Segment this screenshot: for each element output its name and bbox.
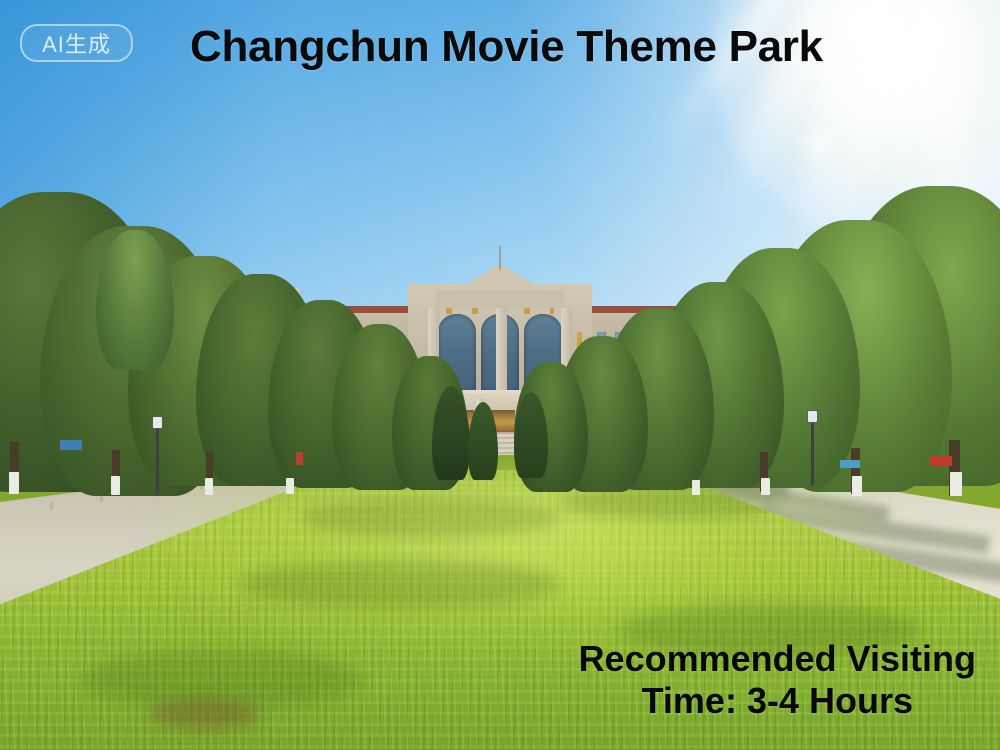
lamp-post-icon <box>156 428 159 494</box>
recommended-visiting-time: Recommended Visiting Time: 3-4 Hours <box>579 638 976 722</box>
path-bollard <box>50 502 53 510</box>
screenshot-root: AI生成 Changchun Movie Theme Park Recommen… <box>0 0 1000 750</box>
recommended-visiting-time-line2: Time: 3-4 Hours <box>579 680 976 722</box>
ai-generated-badge-label: AI生成 <box>42 27 111 59</box>
lawn-shade-patch <box>300 498 560 538</box>
whitewashed-trunk-base <box>950 472 962 496</box>
page-title: Changchun Movie Theme Park <box>190 22 823 72</box>
distant-bench <box>840 460 860 468</box>
whitewashed-trunk-base <box>852 476 862 496</box>
lamp-head <box>807 410 818 423</box>
lamp-post-icon <box>811 422 814 486</box>
recommended-visiting-time-line1: Recommended Visiting <box>579 638 976 680</box>
whitewashed-trunk-base <box>761 478 770 495</box>
pine-tree-icon <box>96 230 174 370</box>
distant-vehicle <box>930 456 952 466</box>
foreground-soil-patch <box>150 700 260 730</box>
whitewashed-trunk-base <box>111 476 120 495</box>
lens-flare-dot <box>862 150 888 176</box>
whitewashed-trunk-base <box>9 472 19 494</box>
tree-line <box>0 196 1000 486</box>
distant-sign <box>60 440 82 450</box>
lens-flare-dot <box>794 120 840 166</box>
whitewashed-trunk-base <box>286 478 294 494</box>
ai-generated-badge: AI生成 <box>20 24 133 62</box>
whitewashed-trunk-base <box>205 478 213 495</box>
pine-tree-icon <box>468 402 498 480</box>
trash-bin <box>296 452 303 465</box>
lamp-head <box>152 416 163 429</box>
lawn-shade-patch <box>240 560 560 608</box>
whitewashed-trunk-base <box>692 480 700 495</box>
